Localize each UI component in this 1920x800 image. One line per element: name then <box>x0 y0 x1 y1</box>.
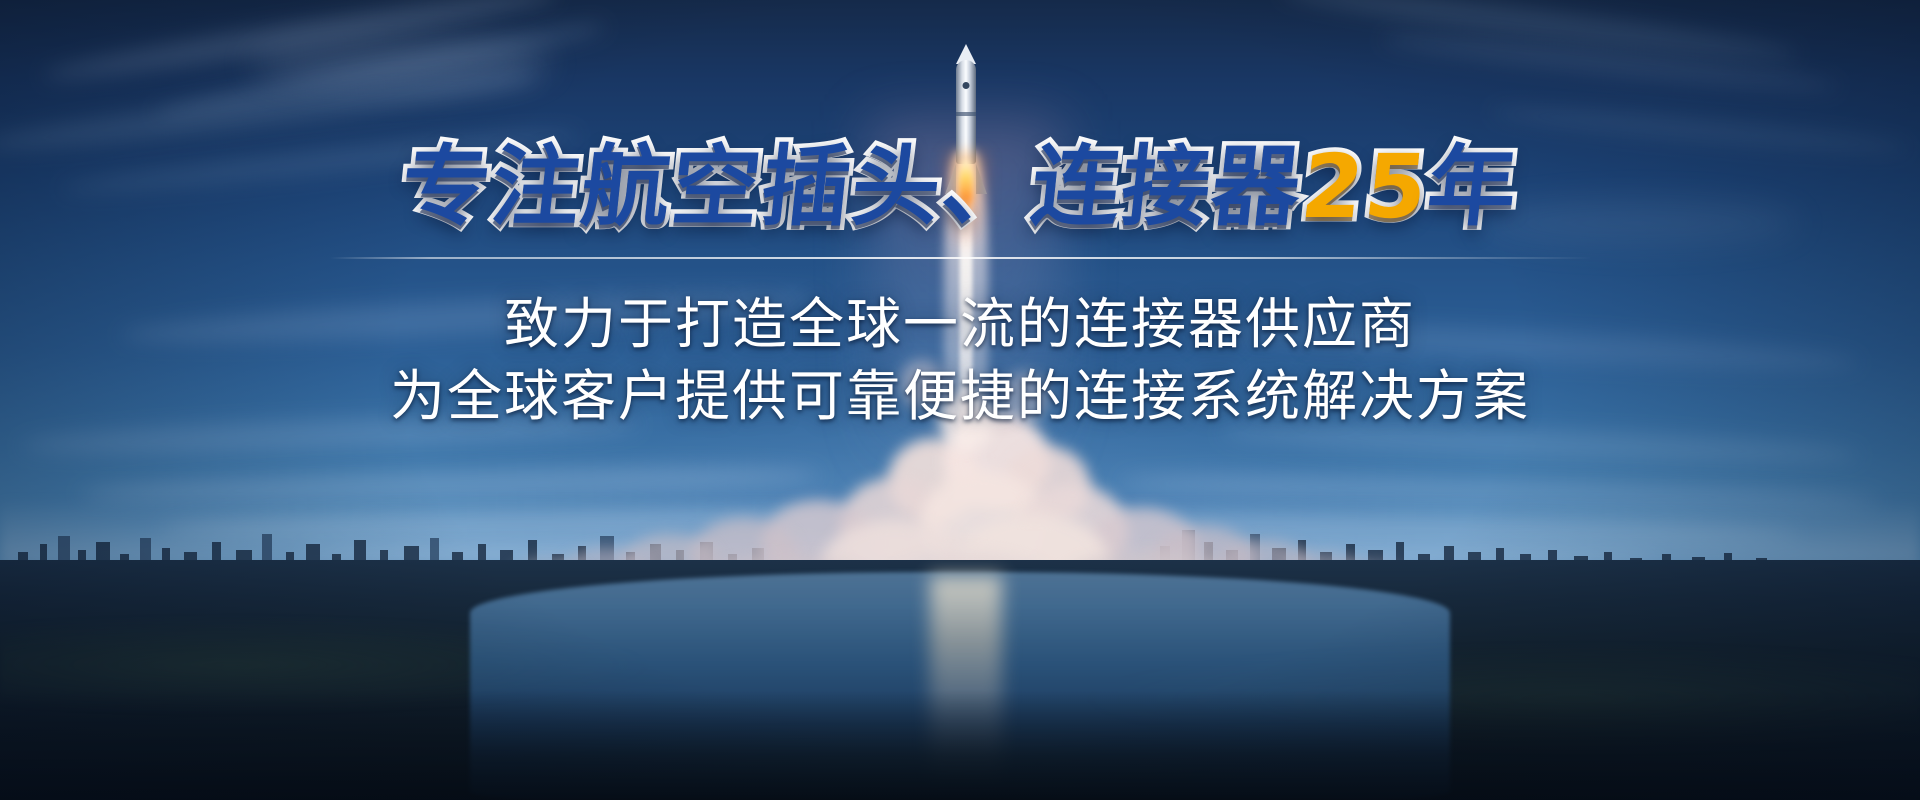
banner-content: 专注航空插头、连接器25年 致力于打造全球一流的连接器供应商 为全球客户提供可靠… <box>0 0 1920 800</box>
page-title: 专注航空插头、连接器25年 <box>0 142 1920 232</box>
headline-number: 25 <box>1297 142 1433 232</box>
divider <box>330 257 1592 259</box>
hero-banner: 专注航空插头、连接器25年 致力于打造全球一流的连接器供应商 为全球客户提供可靠… <box>0 0 1920 800</box>
headline-primary: 专注航空插头、连接器 <box>397 142 1306 232</box>
subtitle-line-2: 为全球客户提供可靠便捷的连接系统解决方案 <box>0 360 1920 432</box>
headline-suffix: 年 <box>1424 142 1523 232</box>
subtitle-line-1: 致力于打造全球一流的连接器供应商 <box>0 288 1920 360</box>
banner-subtitle: 致力于打造全球一流的连接器供应商 为全球客户提供可靠便捷的连接系统解决方案 <box>0 288 1920 432</box>
